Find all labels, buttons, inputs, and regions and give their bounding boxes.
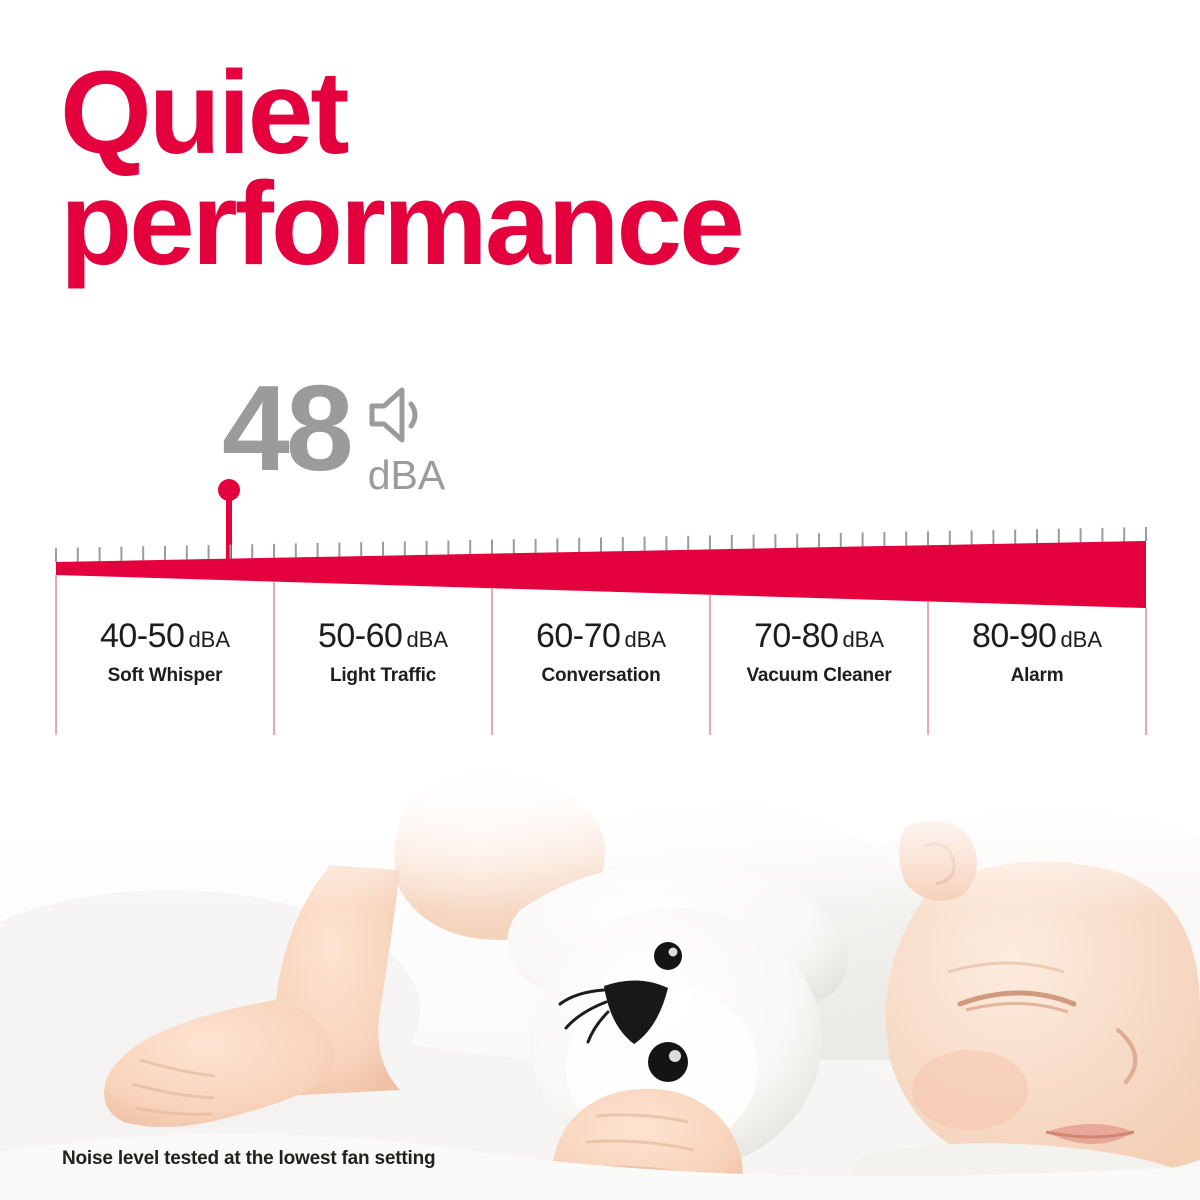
headline-line-2: performance [60, 169, 920, 280]
segment-name: Light Traffic [280, 665, 486, 687]
scale-segment: 70-80dBA Vacuum Cleaner [710, 618, 928, 687]
segment-unit: dBA [1060, 627, 1102, 652]
baby-photo [0, 760, 1200, 1200]
scale-segment: 80-90dBA Alarm [928, 618, 1146, 687]
scale-segment-labels: 40-50dBA Soft Whisper 50-60dBA Light Tra… [56, 618, 1146, 687]
scale-segment: 40-50dBA Soft Whisper [56, 618, 274, 687]
segment-name: Vacuum Cleaner [716, 665, 922, 687]
segment-range: 70-80dBA [716, 618, 922, 655]
segment-range: 60-70dBA [498, 618, 704, 655]
segment-name: Alarm [934, 665, 1140, 687]
photo-caption: Noise level tested at the lowest fan set… [62, 1148, 435, 1170]
scale-segment: 50-60dBA Light Traffic [274, 618, 492, 687]
reading-value: 48 [222, 378, 350, 478]
scale-segment: 60-70dBA Conversation [492, 618, 710, 687]
page-title: Quiet performance [60, 58, 920, 280]
segment-range: 40-50dBA [62, 618, 268, 655]
segment-unit: dBA [406, 627, 448, 652]
noise-scale [0, 470, 1200, 760]
segment-range: 80-90dBA [934, 618, 1140, 655]
headline-line-1: Quiet [60, 58, 920, 169]
speaker-icon [364, 386, 426, 449]
segment-unit: dBA [624, 627, 666, 652]
segment-range: 50-60dBA [280, 618, 486, 655]
segment-unit: dBA [842, 627, 884, 652]
segment-unit: dBA [188, 627, 230, 652]
segment-name: Conversation [498, 665, 704, 687]
segment-name: Soft Whisper [62, 665, 268, 687]
